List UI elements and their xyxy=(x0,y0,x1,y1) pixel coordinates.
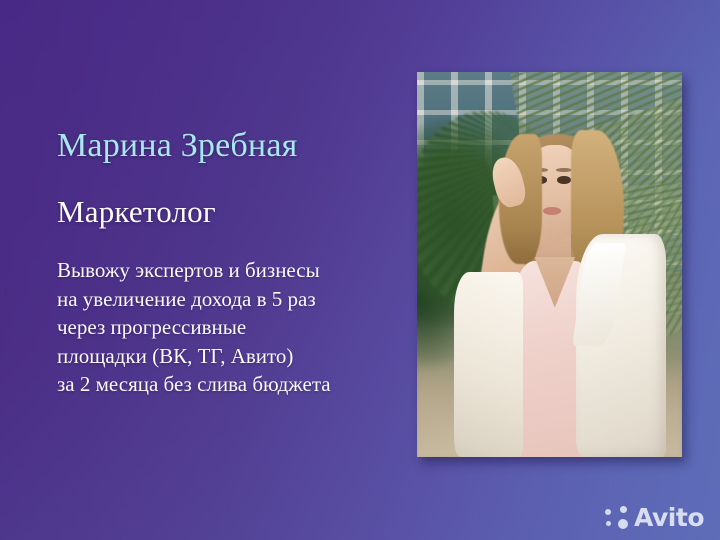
description-block: Вывожу экспертов и бизнесы на увеличение… xyxy=(57,256,407,399)
text-column: Марина Зребная Маркетолог Вывожу эксперт… xyxy=(57,124,407,399)
promo-slide: Марина Зребная Маркетолог Вывожу эксперт… xyxy=(0,0,720,540)
person-name: Марина Зребная xyxy=(57,124,407,168)
description-line: Вывожу экспертов и бизнесы xyxy=(57,256,407,285)
description-line: на увеличение дохода в 5 раз xyxy=(57,285,407,314)
avito-dots-icon xyxy=(605,506,628,529)
description-line: площадки (ВК, ТГ, Авито) xyxy=(57,342,407,371)
portrait-photo-frame xyxy=(417,72,682,457)
photo-vignette xyxy=(417,72,682,457)
avito-watermark: Avito xyxy=(605,505,704,530)
description-line: через прогрессивные xyxy=(57,313,407,342)
person-role: Маркетолог xyxy=(57,192,407,232)
avito-wordmark: Avito xyxy=(634,505,704,530)
description-line: за 2 месяца без слива бюджета xyxy=(57,370,407,399)
portrait-photo xyxy=(417,72,682,457)
